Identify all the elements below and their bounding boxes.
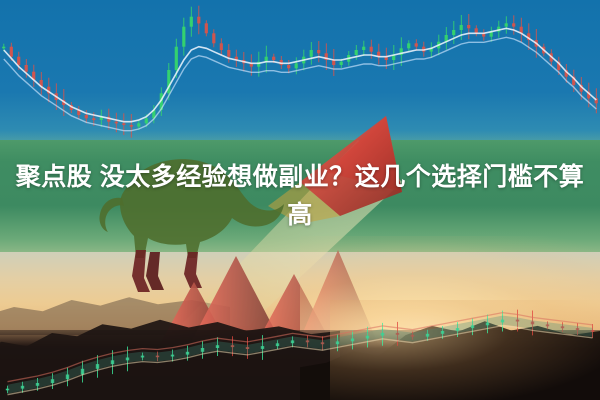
page-title: 聚点股 没太多经验想做副业？这几个选择门槛不算高 <box>0 158 600 234</box>
thumbnail-image: 聚点股 没太多经验想做副业？这几个选择门槛不算高 <box>0 0 600 400</box>
bottom-candlestick-chart <box>0 296 600 400</box>
title-overlay: 聚点股 没太多经验想做副业？这几个选择门槛不算高 <box>0 158 600 234</box>
